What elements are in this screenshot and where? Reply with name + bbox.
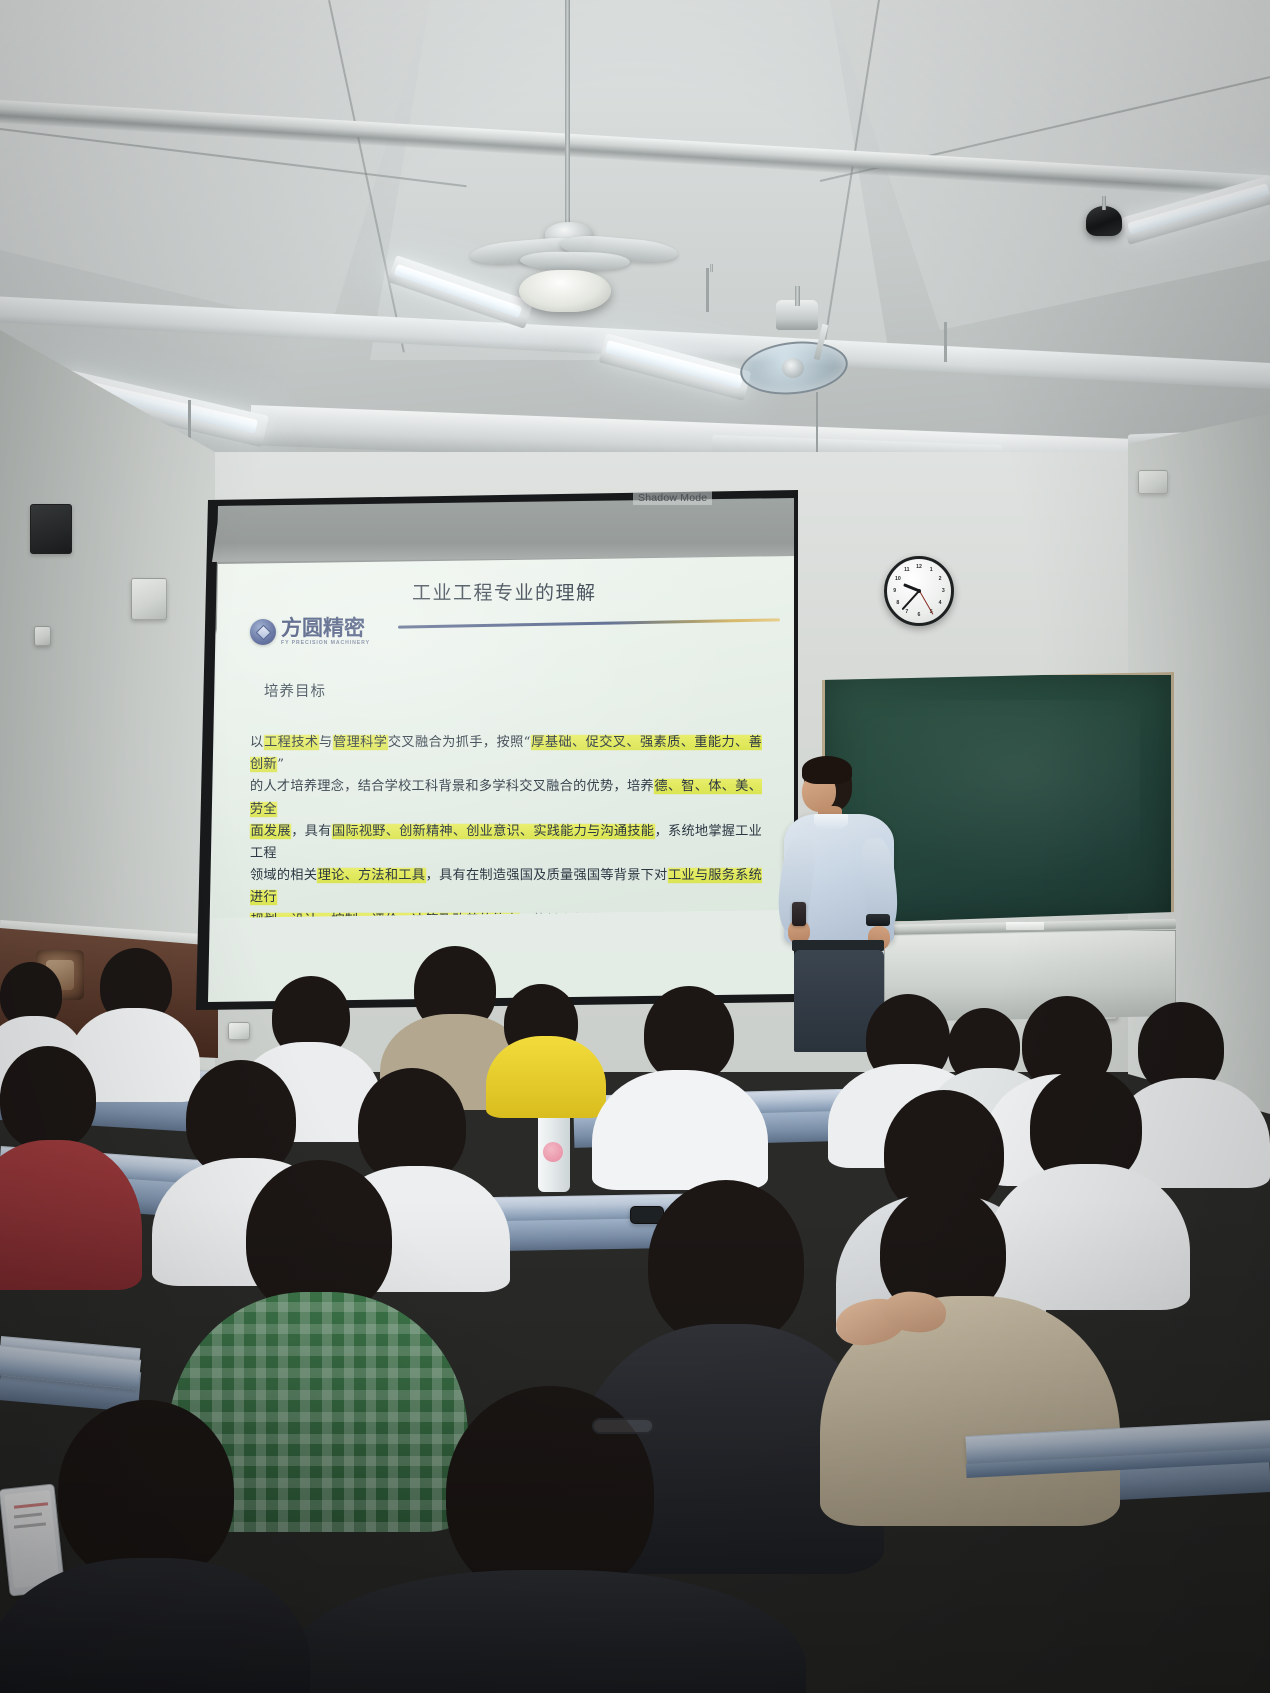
slide-text-highlighted: 面发展 xyxy=(250,824,291,839)
clock-numeral: 1 xyxy=(930,567,933,573)
clock-center-pin xyxy=(917,589,921,593)
audience-body xyxy=(592,1070,768,1190)
clock-numeral: 12 xyxy=(916,564,922,570)
logo-english-text: FY PRECISION MACHINERY xyxy=(281,641,370,646)
clock-numeral: 11 xyxy=(904,567,909,573)
slide-text-plain: ” xyxy=(277,757,284,772)
logo-chinese-text: 方圆精密 xyxy=(281,618,370,639)
podium-paper xyxy=(1006,922,1044,930)
wall-control-panel-left[interactable] xyxy=(131,578,167,620)
wall-fan-mount-rod xyxy=(795,286,800,306)
slide-text-plain: 领域的相关 xyxy=(250,868,317,883)
slide-subheading: 培养目标 xyxy=(264,680,326,701)
slide-body-line: 以工程技术与管理科学交叉融合为抓手，按照“厚基础、促交叉、强素质、重能力、善创新… xyxy=(250,732,762,776)
slide-title: 工业工程专业的理解 xyxy=(412,578,597,605)
classroom-photo-scene: 12 1 2 3 4 5 6 7 8 9 10 11 方圆精密 FY PRECI… xyxy=(0,0,1270,1693)
audience-head xyxy=(0,1046,96,1150)
pendant-rod xyxy=(710,264,713,272)
wall-outlet-center[interactable] xyxy=(228,1022,250,1040)
screen-inactive-band xyxy=(212,500,794,562)
presenter-watch xyxy=(866,914,890,926)
slide-text-highlighted: 理论、方法和工具 xyxy=(317,868,425,883)
clock-second-hand xyxy=(919,591,933,615)
presenter-clicker[interactable] xyxy=(792,902,806,926)
presentation-slide: 方圆精密 FY PRECISION MACHINERY 工业工程专业的理解 培养… xyxy=(212,556,794,918)
audience-body-foreground xyxy=(286,1570,806,1693)
shadow-mode-label: Shadow Mode xyxy=(633,491,712,505)
slide-text-highlighted: 工程技术 xyxy=(264,735,319,750)
clock-numeral: 7 xyxy=(905,609,908,615)
wall-outlet-left[interactable] xyxy=(34,626,51,646)
slide-body-text: 以工程技术与管理科学交叉融合为抓手，按照“厚基础、促交叉、强素质、重能力、善创新… xyxy=(250,732,762,918)
audience-body xyxy=(0,1558,310,1693)
audience-head xyxy=(644,986,734,1082)
slide-text-highlighted: 管理科学 xyxy=(333,735,388,750)
ceiling-fan-rod xyxy=(565,0,570,228)
ceiling-fan-light-dome xyxy=(519,270,611,312)
audience-body-yellow xyxy=(486,1036,606,1118)
slide-text-plain: 以 xyxy=(250,735,264,750)
slide-text-plain: 的人才培养理念，结合学校工科背景和多学科交叉融合的优势，培养 xyxy=(250,779,654,794)
fy-diamond-logo-icon xyxy=(250,619,276,645)
slide-text-plain: 与 xyxy=(319,735,333,750)
slide-text-plain: 交叉融合为抓手，按照“ xyxy=(388,735,531,750)
wall-fan-hub xyxy=(782,358,804,378)
glasses-icon xyxy=(592,1418,654,1434)
clock-minute-hand xyxy=(902,590,920,610)
audience-head xyxy=(648,1180,804,1346)
ceiling-speaker-right-mount xyxy=(1102,196,1106,210)
slide-text-highlighted: 国际视野、创新精神、创业意识、实践能力与沟通技能 xyxy=(332,824,655,839)
clock-numeral: 9 xyxy=(893,588,896,594)
presenter-collar xyxy=(814,814,848,830)
slide-body-line: 的人才培养理念，结合学校工科背景和多学科交叉融合的优势，培养德、智、体、美、劳全 xyxy=(250,776,762,820)
ceiling-speaker-right xyxy=(1086,206,1122,236)
clock-numeral: 6 xyxy=(918,612,921,618)
audience-head xyxy=(58,1400,234,1582)
slide-title-underline xyxy=(398,618,780,628)
clock-numeral: 3 xyxy=(942,588,945,594)
wall-panel-right[interactable] xyxy=(1138,470,1168,494)
audience-body xyxy=(986,1164,1190,1310)
slide-logo: 方圆精密 FY PRECISION MACHINERY xyxy=(250,618,370,646)
slide-body-line: 面发展，具有国际视野、创新精神、创业意识、实践能力与沟通技能，系统地掌握工业工程 xyxy=(250,821,762,865)
slide-text-plain: ，具有 xyxy=(291,824,331,839)
clock-numeral: 10 xyxy=(895,576,901,582)
light-hanger-rod-4 xyxy=(944,322,947,362)
bottle-sticker xyxy=(543,1142,563,1162)
clock-numeral: 4 xyxy=(939,600,942,606)
clock-numeral: 2 xyxy=(939,576,942,582)
light-hanger-rod-3 xyxy=(706,268,709,312)
slide-text-plain: ，具有在制造强国及质量强国等背景下对 xyxy=(426,868,668,883)
clock-numeral: 8 xyxy=(896,600,899,606)
slide-body-line: 领域的相关理论、方法和工具，具有在制造强国及质量强国等背景下对工业与服务系统进行 xyxy=(250,865,762,909)
wall-clock: 12 1 2 3 4 5 6 7 8 9 10 11 xyxy=(884,556,954,626)
presenter-hair xyxy=(802,756,852,784)
wall-switch-box-upper-left[interactable] xyxy=(30,504,72,554)
